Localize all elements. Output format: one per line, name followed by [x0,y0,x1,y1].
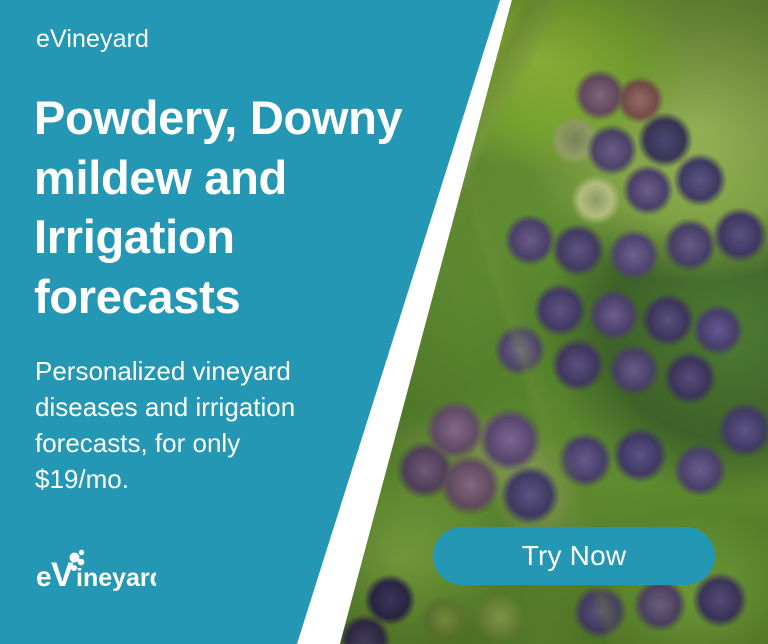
advertisement-banner: eVineyard Powdery, Downy mildew and Irri… [0,0,768,644]
headline: Powdery, Downy mildew and Irrigation for… [34,88,414,327]
svg-text:ineyard: ineyard [76,564,156,592]
svg-text:e: e [36,561,52,592]
try-now-button[interactable]: Try Now [433,527,715,585]
evineyard-logo: e V ineyard [36,548,156,592]
evineyard-logo-icon: e V ineyard [36,548,156,592]
svg-text:V: V [51,556,74,592]
brand-name: eVineyard [36,27,149,52]
subtitle: Personalized vineyard diseases and irrig… [35,354,310,498]
